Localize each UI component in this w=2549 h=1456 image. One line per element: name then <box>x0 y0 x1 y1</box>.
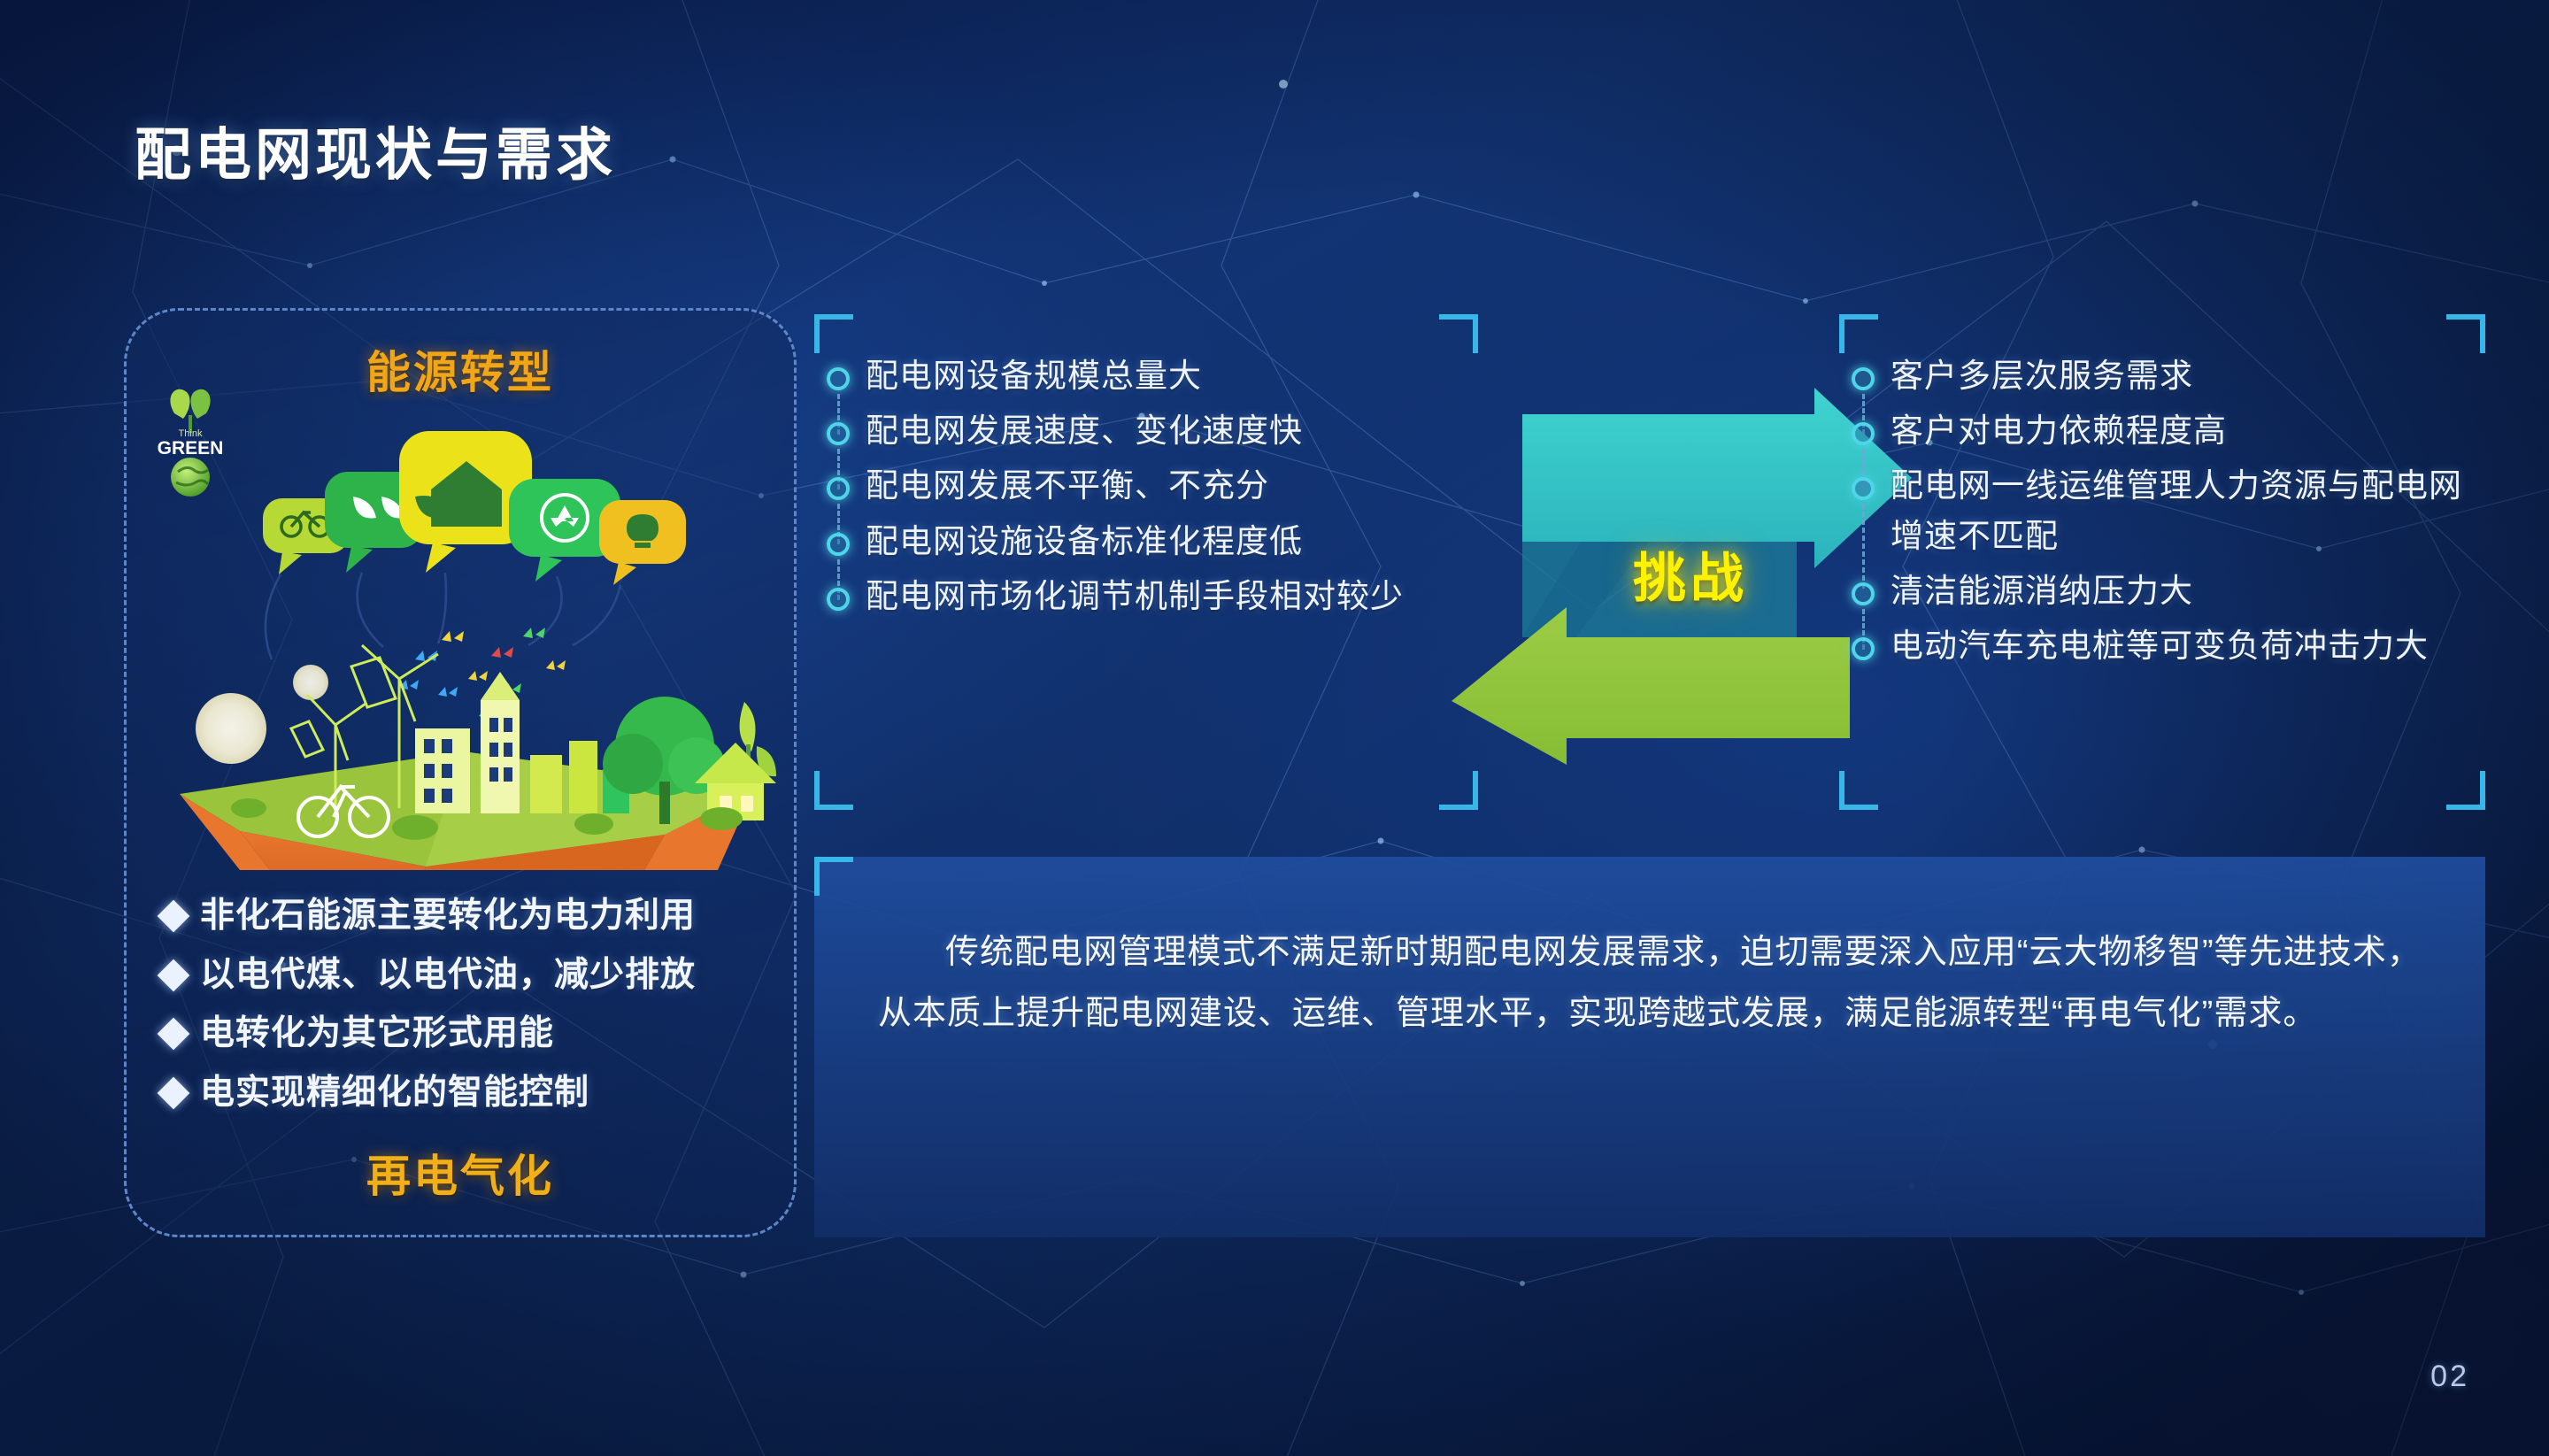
list-item: 配电网发展不平衡、不充分 <box>866 461 1478 511</box>
list-item-label: 配电网市场化调节机制手段相对较少 <box>866 572 1404 621</box>
corner-bracket-icon <box>814 857 853 896</box>
list-item-label: 配电网设施设备标准化程度低 <box>866 517 1303 566</box>
bullet-dot-icon <box>827 422 850 445</box>
list-item: 客户对电力依赖程度高 <box>1891 406 2485 456</box>
bullet-label: 非化石能源主要转化为电力利用 <box>200 895 696 937</box>
list-item-label: 客户对电力依赖程度高 <box>1891 406 2227 456</box>
list-item: 电实现精细化的智能控制 <box>162 1072 771 1114</box>
current-status-list: 配电网设备规模总量大 配电网发展速度、变化速度快 配电网发展不平衡、不充分 配电… <box>814 314 1478 621</box>
demand-list: 客户多层次服务需求 客户对电力依赖程度高 配电网一线运维管理人力资源与配电网增速… <box>1839 314 2485 671</box>
list-item-label: 配电网发展不平衡、不充分 <box>866 461 1269 511</box>
bullet-label: 电转化为其它形式用能 <box>200 1013 554 1055</box>
bullet-dot-icon <box>1852 582 1875 605</box>
bullet-dot-icon <box>827 533 850 556</box>
current-status-panel: 配电网设备规模总量大 配电网发展速度、变化速度快 配电网发展不平衡、不充分 配电… <box>814 314 1478 810</box>
list-item: 配电网市场化调节机制手段相对较少 <box>866 572 1478 621</box>
page-title: 配电网现状与需求 <box>135 110 616 191</box>
corner-bracket-icon <box>814 771 853 810</box>
svg-text:GREEN: GREEN <box>158 438 224 458</box>
list-item-label: 清洁能源消纳压力大 <box>1891 566 2193 616</box>
list-item-label: 配电网发展速度、变化速度快 <box>866 406 1303 456</box>
list-item-label: 配电网设备规模总量大 <box>866 351 1202 401</box>
list-item: 电转化为其它形式用能 <box>162 1013 771 1055</box>
bullet-dot-icon <box>1852 367 1875 390</box>
corner-bracket-icon <box>1839 771 1878 810</box>
list-item: 客户多层次服务需求 <box>1891 351 2485 401</box>
summary-panel: 传统配电网管理模式不满足新时期配电网发展需求，迫切需要深入应用“云大物移智”等先… <box>814 857 2485 1237</box>
corner-bracket-icon <box>1439 771 1478 810</box>
moon-large <box>196 693 266 764</box>
energy-transition-card: 能源转型 Think GREEN <box>124 308 797 1237</box>
bullet-connector-line <box>1862 504 1865 589</box>
list-item-label: 电动汽车充电桩等可变负荷冲击力大 <box>1891 621 2429 671</box>
list-item: 以电代煤、以电代油，减少排放 <box>162 954 771 997</box>
speech-bubble-lightbulb <box>599 500 686 585</box>
bullet-label: 以电代煤、以电代油，减少排放 <box>200 954 696 997</box>
list-item: 清洁能源消纳压力大 <box>1891 566 2485 616</box>
bullet-dot-icon <box>1852 422 1875 445</box>
list-item-label: 配电网一线运维管理人力资源与配电网增速不匹配 <box>1891 461 2485 560</box>
bullet-dot-icon <box>1852 477 1875 500</box>
diamond-bullet-icon <box>158 959 190 991</box>
diamond-bullet-icon <box>158 1018 190 1051</box>
list-item: 非化石能源主要转化为电力利用 <box>162 895 771 937</box>
list-item: 配电网一线运维管理人力资源与配电网增速不匹配 <box>1891 461 2485 560</box>
diamond-bullet-icon <box>158 900 190 933</box>
think-green-logo: Think GREEN <box>158 389 224 497</box>
demand-panel: 客户多层次服务需求 客户对电力依赖程度高 配电网一线运维管理人力资源与配电网增速… <box>1839 314 2485 810</box>
bullet-dot-icon <box>827 477 850 500</box>
energy-transition-bullet-list: 非化石能源主要转化为电力利用 以电代煤、以电代油，减少排放 电转化为其它形式用能… <box>162 895 771 1130</box>
corner-bracket-icon <box>2446 771 2485 810</box>
green-eco-island-illustration: Think GREEN <box>134 374 792 870</box>
bullet-dot-icon <box>827 367 850 390</box>
list-item-label: 客户多层次服务需求 <box>1891 351 2193 401</box>
list-item: 电动汽车充电桩等可变负荷冲击力大 <box>1891 621 2485 671</box>
bubble-connector-wires <box>266 573 620 659</box>
list-item: 配电网发展速度、变化速度快 <box>866 406 1478 456</box>
summary-text: 传统配电网管理模式不满足新时期配电网发展需求，迫切需要深入应用“云大物移智”等先… <box>878 922 2422 1044</box>
reelectrification-heading: 再电气化 <box>127 1141 794 1205</box>
bullet-dot-icon <box>827 588 850 611</box>
bullet-label: 电实现精细化的智能控制 <box>200 1072 589 1114</box>
list-item: 配电网设施设备标准化程度低 <box>866 517 1478 566</box>
bullet-dot-icon <box>1852 637 1875 660</box>
moon-small <box>293 665 328 700</box>
list-item: 配电网设备规模总量大 <box>866 351 1478 401</box>
diamond-bullet-icon <box>158 1076 190 1109</box>
page-number: 02 <box>2430 1360 2469 1394</box>
